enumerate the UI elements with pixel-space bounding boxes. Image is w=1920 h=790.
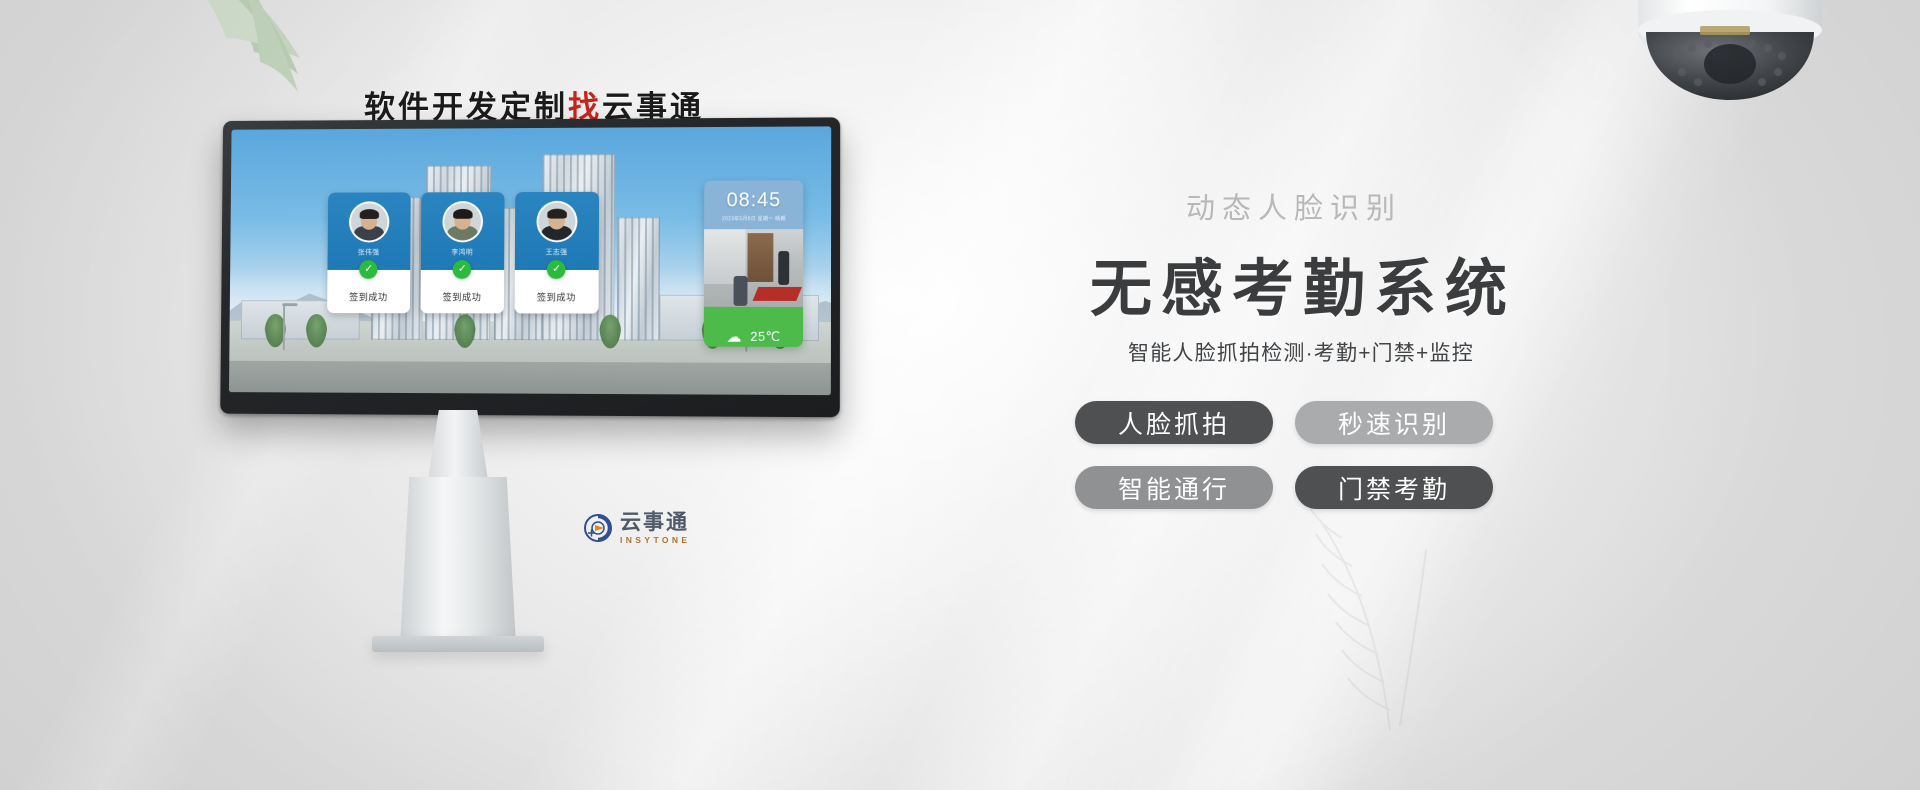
avatar bbox=[349, 201, 390, 242]
clock-widget: 08:45 2023年5月8日 星期一 晴朗 bbox=[704, 180, 803, 229]
feature-tag-smart-access[interactable]: 智能通行 bbox=[1075, 466, 1273, 509]
cctv-feed[interactable] bbox=[704, 229, 803, 307]
card-header: 王志强 bbox=[515, 191, 599, 269]
logo-name-zh: 云事通 bbox=[620, 512, 691, 533]
cctv-floor-mat bbox=[753, 287, 802, 301]
cctv-person bbox=[734, 276, 748, 306]
office-tower-e bbox=[617, 218, 660, 341]
avatar bbox=[442, 201, 483, 242]
checkin-card[interactable]: 张伟强 ✓ 签到成功 bbox=[327, 192, 411, 313]
monitor-bezel: 张伟强 ✓ 签到成功 李鸿明 ✓ 签到成功 bbox=[220, 117, 840, 417]
subtitle-text: 智能人脸抓拍检测·考勤+门禁+监控 bbox=[1128, 337, 1474, 367]
logo-name-en: INSYTONE bbox=[620, 536, 691, 545]
card-header: 李鸿明 bbox=[421, 192, 505, 270]
checkin-status: 签到成功 bbox=[514, 278, 598, 313]
feature-tag-access-attend[interactable]: 门禁考勤 bbox=[1295, 466, 1493, 509]
feature-tag-face-capture[interactable]: 人脸抓拍 bbox=[1075, 401, 1273, 444]
cctv-person bbox=[778, 251, 789, 285]
checkin-card[interactable]: 王志强 ✓ 签到成功 bbox=[514, 191, 599, 313]
monitor-base bbox=[372, 636, 544, 652]
brand-logo: 云事通 INSYTONE bbox=[583, 512, 691, 545]
feature-tag-fast-recognize[interactable]: 秒速识别 bbox=[1295, 401, 1493, 444]
tree bbox=[455, 315, 477, 349]
palm-leaf-decoration bbox=[160, 0, 370, 124]
card-header: 张伟强 bbox=[327, 192, 410, 270]
cctv-door bbox=[748, 234, 774, 282]
logo-mark-icon bbox=[583, 513, 613, 543]
checkin-status: 签到成功 bbox=[420, 278, 504, 313]
person-name: 王志强 bbox=[546, 247, 568, 257]
clock-date: 2023年5月8日 星期一 晴朗 bbox=[704, 215, 803, 222]
tree bbox=[599, 315, 621, 349]
weather-temperature: 25℃ bbox=[750, 329, 780, 345]
success-check-icon: ✓ bbox=[547, 260, 566, 279]
checkin-card[interactable]: 李鸿明 ✓ 签到成功 bbox=[420, 192, 504, 313]
person-name: 李鸿明 bbox=[451, 247, 473, 257]
dome-camera-icon bbox=[1620, 0, 1840, 118]
kiosk-monitor: 张伟强 ✓ 签到成功 李鸿明 ✓ 签到成功 bbox=[205, 117, 840, 417]
monitor-screen: 张伟强 ✓ 签到成功 李鸿明 ✓ 签到成功 bbox=[229, 126, 831, 395]
road bbox=[229, 361, 831, 396]
logo-text: 云事通 INSYTONE bbox=[620, 512, 691, 545]
success-check-icon: ✓ bbox=[359, 260, 377, 279]
page-title: 无感考勤系统 bbox=[1090, 238, 1516, 328]
checkin-card-list: 张伟强 ✓ 签到成功 李鸿明 ✓ 签到成功 bbox=[327, 191, 599, 313]
success-check-icon: ✓ bbox=[453, 260, 472, 279]
monitor-stand bbox=[400, 477, 516, 645]
weather-cloud-icon: ☁ bbox=[726, 328, 741, 346]
weather-widget: ☁ 25℃ bbox=[704, 307, 803, 347]
avatar bbox=[536, 200, 577, 242]
promotional-banner: 软件开发定制找云事通 bbox=[0, 0, 1920, 790]
info-panel: 08:45 2023年5月8日 星期一 晴朗 ☁ 25℃ bbox=[704, 180, 804, 346]
clock-time: 08:45 bbox=[704, 189, 803, 212]
person-name: 张伟强 bbox=[358, 247, 380, 257]
street-lamp bbox=[282, 305, 284, 350]
feature-tag-list: 人脸抓拍 秒速识别 智能通行 门禁考勤 bbox=[1075, 401, 1505, 509]
eyebrow-text: 动态人脸识别 bbox=[1186, 185, 1402, 227]
tree bbox=[306, 314, 327, 347]
checkin-status: 签到成功 bbox=[327, 278, 410, 312]
